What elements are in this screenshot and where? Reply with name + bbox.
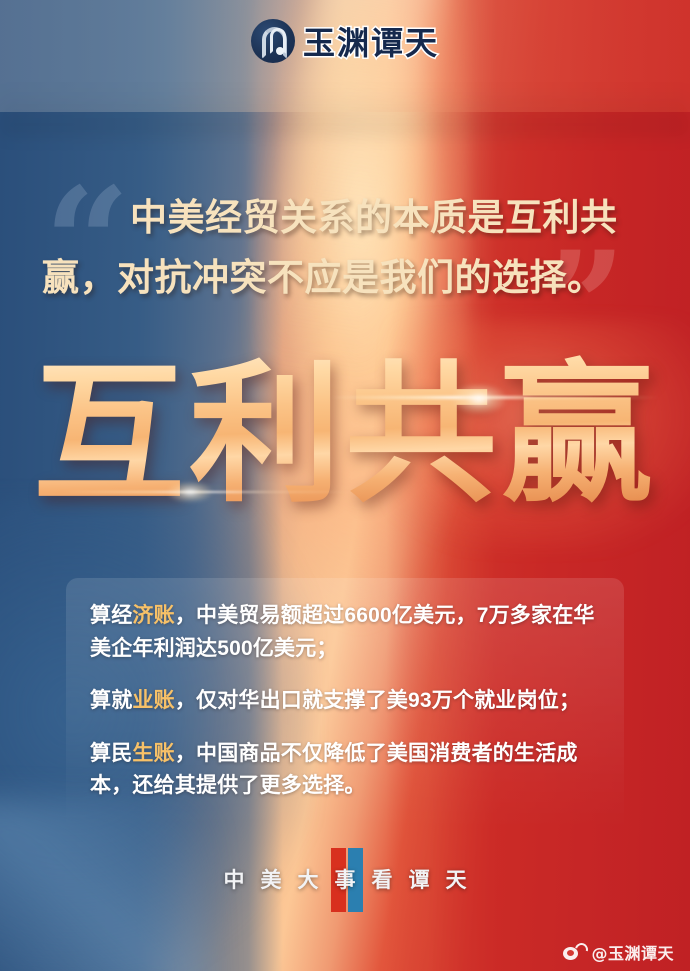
background-top-strip-fade [0,86,690,136]
headline-title: 互利共赢 [0,352,690,516]
weibo-handle: @玉渊谭天 [591,940,674,964]
paragraph-prefix: 算民 [90,742,132,765]
logo-dot [276,47,284,55]
weibo-watermark: @玉渊谭天 [563,940,674,964]
brand-name: 玉渊谭天 [303,18,439,64]
brand-header: 玉渊谭天 [0,18,690,64]
paragraph-rest: ，仅对华出口就支撑了美93万个就业岗位； [175,689,580,712]
poster-canvas: 玉渊谭天 “ ” 中美经贸关系的本质是互利共赢，对抗冲突不应是我们的选择。 互利… [0,0,690,971]
body-panel: 算经济账，中美贸易额超过6600亿美元，7万多家在华美企年利润达500亿美元； … [66,578,624,829]
paragraph-prefix: 算就 [90,689,132,712]
quote-block: “ ” 中美经贸关系的本质是互利共赢，对抗冲突不应是我们的选择。 [0,170,690,370]
body-paragraph: 算就业账，仅对华出口就支撑了美93万个就业岗位； [90,685,600,718]
footer-slogan-block: 中美大事看谭天 [0,846,690,912]
quote-text: 中美经贸关系的本质是互利共赢，对抗冲突不应是我们的选择。 [42,188,650,308]
footer-slogan: 中美大事看谭天 [0,864,690,894]
weibo-icon [563,943,585,961]
paragraph-highlight: 业账 [132,689,174,712]
body-paragraph: 算民生账，中国商品不仅降低了美国消费者的生活成本，还给其提供了更多选择。 [90,738,600,803]
paragraph-highlight: 济账 [132,604,174,627]
paragraph-prefix: 算经 [90,604,132,627]
yuyuan-tantian-logo-icon [251,19,295,63]
paragraph-highlight: 生账 [132,742,174,765]
body-paragraph: 算经济账，中美贸易额超过6600亿美元，7万多家在华美企年利润达500亿美元； [90,600,600,665]
